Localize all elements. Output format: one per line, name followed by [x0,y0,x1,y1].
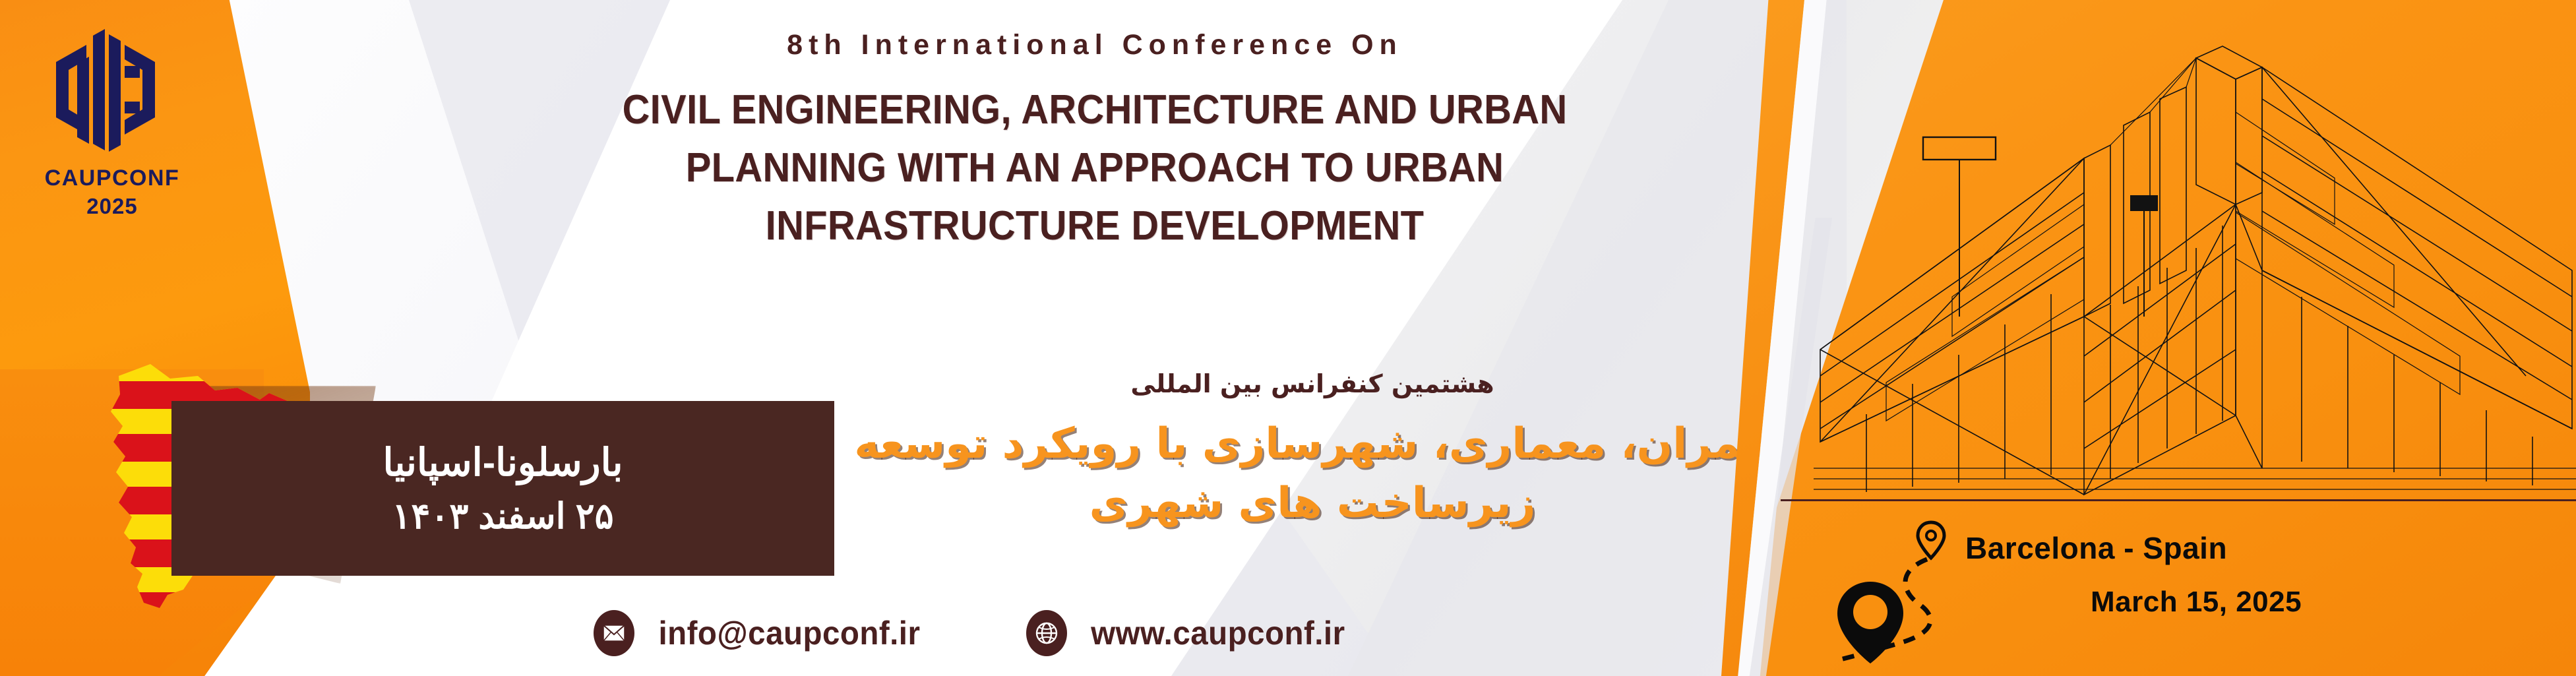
venue-date: March 15, 2025 [2091,586,2302,619]
contact-email[interactable]: info@caupconf.ir [594,610,927,656]
logo-year: 2025 [86,194,137,219]
contact-website[interactable]: www.caupconf.ir [1026,610,1352,656]
persian-title-line-1: عمران، معماری، شهرسازی با رویکرد توسعه [844,414,1781,474]
logo-wordmark: CAUPCONF [45,164,180,194]
ground-baseline [1781,499,2576,501]
persian-title: عمران، معماری، شهرسازی با رویکرد توسعه ز… [844,414,1781,534]
conference-banner: CAUPCONF 2025 بارسلونا-اسپانیا ۲۵ اسفند … [0,0,2576,676]
building-wireframe-blueprint-icon [1800,7,2576,508]
website-text: www.caupconf.ir [1091,614,1345,652]
hexagon-building-logo-icon [52,25,172,154]
right-orange-zone: Barcelona - Spain March 15, 2025 [1721,0,2576,676]
location-pin-large-icon [1832,578,1911,667]
title-line-1: CIVIL ENGINEERING, ARCHITECTURE AND URBA… [494,81,1696,139]
title-line-3: INFRASTRUCTURE DEVELOPMENT [494,197,1696,255]
conference-title: CIVIL ENGINEERING, ARCHITECTURE AND URBA… [448,81,1741,255]
conference-kicker: 8th International Conference On [448,29,1741,61]
contact-bar: info@caupconf.ir www.caupconf.ir [594,597,1715,669]
persian-title-line-2: زیرساخت های شهری [844,474,1781,534]
survey-marker-group [1923,137,2158,317]
persian-kicker: هشتمین کنفرانس بین المللی [844,369,1781,400]
venue-city: Barcelona - Spain [1965,530,2227,566]
ribbon-place-fa: بارسلونا-اسپانیا [383,440,623,485]
persian-headline-block: هشتمین کنفرانس بین المللی عمران، معماری،… [844,369,1781,587]
email-text: info@caupconf.ir [658,614,920,652]
ribbon-date-fa: ۲۵ اسفند ۱۴۰۳ [392,495,613,537]
conference-logo: CAUPCONF 2025 [26,25,198,223]
globe-icon [1026,610,1067,656]
headline-block: 8th International Conference On CIVIL EN… [448,13,1741,356]
venue-info-block: Barcelona - Spain March 15, 2025 [1873,514,2532,666]
venue-date-ribbon: بارسلونا-اسپانیا ۲۵ اسفند ۱۴۰۳ [171,401,834,576]
envelope-icon [594,610,634,656]
title-line-2: PLANNING WITH AN APPROACH TO URBAN [494,139,1696,197]
